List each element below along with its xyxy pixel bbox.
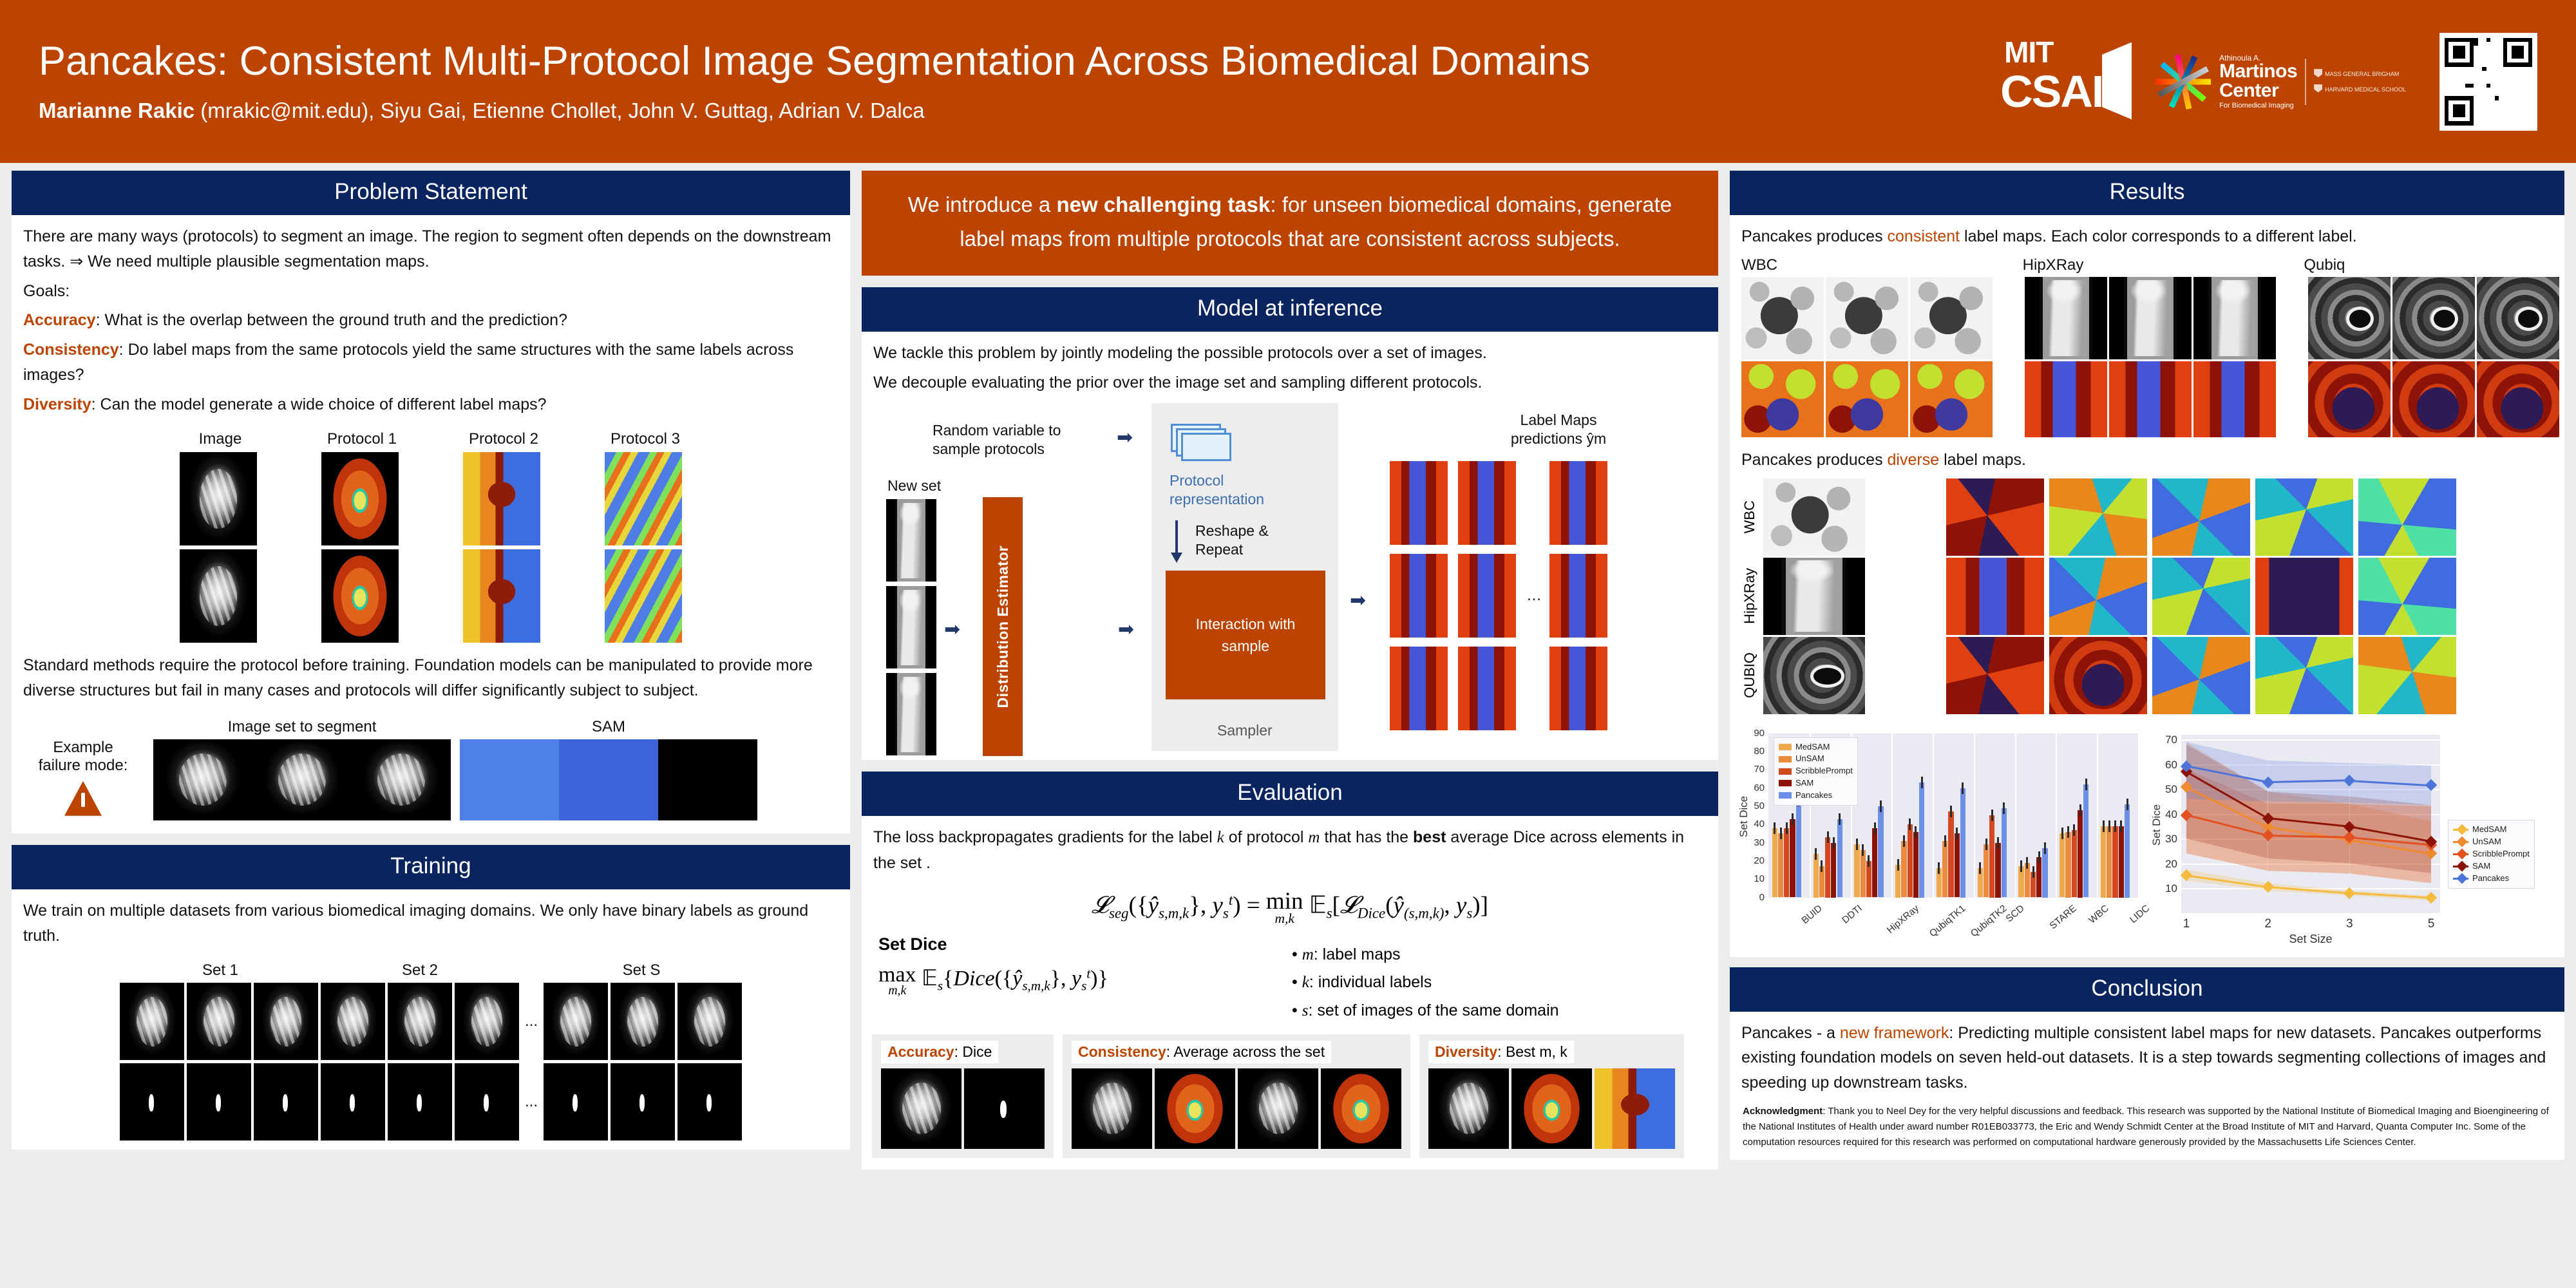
bar-pancakes-ddti — [1837, 819, 1842, 898]
bar-pancakes-qubiqtk2 — [1960, 788, 1965, 898]
bar-errorbar — [1997, 837, 1999, 849]
protocol-image-r2c1 — [180, 549, 257, 643]
diagram-newset-image-1 — [886, 499, 936, 582]
bar-errorbar — [2061, 828, 2063, 839]
failure-image-2 — [252, 739, 352, 820]
goal-diversity-text: : Can the model generate a wide choice o… — [91, 395, 547, 413]
metric-panel-accuracy: Accuracy: Dice — [872, 1034, 1054, 1158]
line-gridline — [2181, 739, 2440, 741]
loss-formula: 𝓛seg({ŷs,m,k}, yst) = minm,k 𝔼s[𝓛Dice(ŷ(… — [862, 880, 1718, 932]
line-xlabel: Set Size — [2181, 933, 2440, 946]
evaluation-definitions: Set Dice maxm,k 𝔼s{Dice({ŷs,m,k}, yst)} … — [862, 932, 1718, 1029]
bar-xtick-stare: STARE — [2048, 903, 2079, 931]
reshape-arrow-head — [1171, 553, 1182, 563]
page-title: Pancakes: Consistent Multi-Protocol Imag… — [39, 39, 1999, 84]
consistency-map-2 — [1321, 1068, 1401, 1149]
diversity-row-wbc: WBC — [1741, 478, 2553, 556]
bar-errorbar — [1874, 822, 1876, 834]
bar-sam-scd — [1995, 843, 2000, 898]
bar-pancakes-stare — [2042, 848, 2047, 898]
problem-statement-body: There are many ways (protocols) to segme… — [12, 215, 850, 428]
line-chart-set-size: 102030405060701235Set SizeSet DiceMedSAM… — [2150, 724, 2561, 953]
poster-canvas: Pancakes: Consistent Multi-Protocol Imag… — [0, 0, 2576, 1288]
training-mask-s1-3 — [254, 1063, 318, 1141]
training-image-row: ... — [19, 983, 842, 1060]
results-hipxray-maps — [2025, 361, 2276, 437]
mit-csail-logo: MIT CSAIL — [1999, 33, 2121, 130]
line-chart-legend: MedSAMUnSAMScribblePromptSAMPancakes — [2448, 820, 2535, 888]
diversity-qubiq-map-1 — [1946, 637, 2044, 714]
bar-sam-qubiqtk2 — [1955, 833, 1960, 897]
bar-pancakes-wbc — [2083, 784, 2088, 898]
legend-item-k: k: individual labels — [1292, 969, 1559, 997]
res-hip-img-3 — [2193, 277, 2276, 359]
bar-sam-wbc — [2078, 810, 2083, 898]
bar-sam-ddti — [1831, 843, 1836, 898]
bar-unsam-hipxray — [1861, 850, 1866, 898]
res-hip-map-2 — [2109, 361, 2192, 437]
task-bold: new challenging task — [1056, 193, 1270, 216]
martinos-star-icon — [2155, 53, 2211, 110]
partner-mgb: MASS GENERAL BRIGHAM — [2314, 69, 2406, 79]
symbol-legend-list: m: label maps k: individual labels s: se… — [1292, 934, 1559, 1025]
training-mask-s2-1 — [321, 1063, 385, 1141]
diagram-reshape-label: Reshape & Repeat — [1195, 522, 1269, 559]
conclusion-paragraph: Pancakes - a new framework: Predicting m… — [1741, 1021, 2553, 1095]
training-mask-s1-2 — [187, 1063, 251, 1141]
results-consistency-figure: WBC HipXRay Qubiq — [1730, 256, 2564, 441]
poster-header: Pancakes: Consistent Multi-Protocol Imag… — [0, 0, 2576, 163]
training-mask-s2-3 — [455, 1063, 519, 1141]
bar-errorbar — [1821, 860, 1823, 872]
pred-r1c3 — [1549, 461, 1607, 545]
distribution-estimator-label: Distribution Estimator — [994, 545, 1012, 708]
model-inference-diagram: Random variable to sample protocols ➡ Pr… — [862, 399, 1718, 760]
model-paragraph-1: We tackle this problem by jointly modeli… — [873, 341, 1707, 366]
set-dice-block: Set Dice maxm,k 𝔼s{Dice({ŷs,m,k}, yst)} — [875, 934, 1274, 1025]
failure-image-3 — [352, 739, 451, 820]
bar-xtick-buid: BUID — [1799, 903, 1824, 926]
bar-errorbar — [1985, 838, 1987, 850]
diagram-new-set-label: New set — [887, 477, 941, 495]
qr-code[interactable] — [2439, 33, 2537, 131]
res-qub-map-3 — [2477, 361, 2559, 437]
martinos-wordmark: Athinoula A. Martinos Center For Biomedi… — [2219, 54, 2297, 109]
results-hipxray-images — [2025, 277, 2276, 359]
problem-statement-panel: Problem Statement There are many ways (p… — [12, 171, 850, 833]
bar-gridline — [1974, 734, 1975, 898]
bar-errorbar — [1774, 822, 1776, 834]
bar-errorbar — [1909, 819, 1911, 830]
diagram-sampler-label: Sampler — [1217, 721, 1273, 740]
arrow-icon-estimator-to-sampler: ➡ — [1118, 618, 1134, 641]
bar-errorbar — [1786, 822, 1788, 834]
failure-image-1 — [153, 739, 252, 820]
bar-unsam-qubiqtk1 — [1901, 841, 1906, 898]
res-wbc-map-1 — [1741, 361, 1824, 437]
failure-sam-2 — [559, 739, 658, 820]
qr-code-grid — [2445, 38, 2532, 126]
consistency-map-1 — [1155, 1068, 1235, 1149]
training-img-ss-2 — [611, 983, 675, 1060]
bar-errorbar — [1979, 862, 1981, 874]
res-wbc-map-2 — [1826, 361, 1908, 437]
task-pre: We introduce a — [908, 193, 1057, 216]
bar-sam-stare — [2036, 857, 2041, 897]
bar-chart-set-dice: 0102030405060708090BUIDDDTIHipXRayQubiqT… — [1734, 724, 2144, 953]
bar-scribbleprompt-scd — [1989, 815, 1994, 898]
legend-label: ScribblePrompt — [2472, 848, 2530, 860]
bar-unsam-buid — [1778, 833, 1783, 897]
training-mask-ss-1 — [544, 1063, 608, 1141]
protocol-caption-2: Protocol 2 — [465, 430, 542, 448]
line-xtick-2: 2 — [2259, 917, 2277, 931]
protocol-caption-3: Protocol 3 — [607, 430, 684, 448]
bar-gridline — [2097, 734, 2098, 898]
header-text-block: Pancakes: Consistent Multi-Protocol Imag… — [0, 39, 1999, 124]
failure-image-set-group: Image set to segment — [153, 718, 451, 820]
bar-unsam-wbc — [2065, 832, 2070, 898]
bar-errorbar — [2114, 820, 2116, 832]
bar-pancakes-buid — [1796, 800, 1801, 897]
training-caption-row: Set 1 Set 2 Set S — [19, 961, 842, 980]
legend-item-unsam: UnSAM — [1779, 753, 1853, 765]
failure-image-set-row — [153, 739, 451, 820]
training-sets-figure: Set 1 Set 2 Set S ... — [12, 959, 850, 1141]
problem-statement-heading: Problem Statement — [12, 171, 850, 215]
acknowledgment-label: Acknowledgment — [1743, 1106, 1823, 1117]
evaluation-paragraph-1: The loss backpropagates gradients for th… — [873, 825, 1707, 876]
results-consistent-text: Pancakes produces consistent label maps.… — [1730, 215, 2564, 256]
problem-goals-label: Goals: — [23, 279, 838, 304]
diversity-qubiq-map-2 — [2049, 637, 2147, 714]
diversity-wbc-map-2 — [2049, 478, 2147, 556]
training-img-s2-1 — [321, 983, 385, 1060]
labelmap-prediction-grid: … — [1390, 461, 1607, 730]
line-ytick: 70 — [2152, 734, 2177, 746]
diversity-wbc-source — [1763, 478, 1865, 556]
bar-errorbar — [1839, 813, 1841, 825]
results-dataset-captions: WBC HipXRay Qubiq — [1741, 256, 2553, 274]
training-mask-ss-2 — [611, 1063, 675, 1141]
legend-label: ScribblePrompt — [1795, 765, 1853, 777]
protocol-labelmap-r1c3 — [463, 452, 540, 545]
diagram-newset-image-2 — [886, 586, 936, 668]
bar-errorbar — [2126, 799, 2128, 810]
metric-consistency-title: Consistency: Average across the set — [1072, 1041, 1331, 1063]
bar-medsam-buid — [1772, 828, 1777, 898]
bar-scribbleprompt-qubiqtk1 — [1908, 824, 1913, 897]
bar-xtick-hipxray: HipXRay — [1885, 903, 1921, 936]
results-charts: 0102030405060708090BUIDDDTIHipXRayQubiqT… — [1730, 718, 2564, 957]
training-img-s2-3 — [455, 983, 519, 1060]
results-caption-qubiq: Qubiq — [2304, 256, 2553, 274]
training-paragraph-1: We train on multiple datasets from vario… — [23, 898, 838, 949]
line-xtick-5: 5 — [2422, 917, 2440, 931]
diversity-rowlabel-wbc: WBC — [1741, 500, 1758, 533]
bar-errorbar — [2038, 851, 2040, 863]
arrow-icon-images-to-estimator: ➡ — [944, 618, 960, 641]
res-hip-map-3 — [2193, 361, 2276, 437]
bar-pancakes-qubiqtk1 — [1919, 782, 1924, 898]
diversity-wbc-map-1 — [1946, 478, 2044, 556]
set-dice-formula: maxm,k 𝔼s{Dice({ŷs,m,k}, yst)} — [875, 954, 1274, 1003]
bar-scribbleprompt-wbc — [2072, 830, 2077, 898]
failure-mode-label-line2: failure mode: — [22, 757, 144, 775]
legend-line-swatch — [2453, 841, 2468, 843]
bar-xtick-qubiqtk2: QubiqTK2 — [1968, 903, 2009, 939]
bar-errorbar — [1880, 800, 1882, 812]
bar-errorbar — [2120, 820, 2122, 832]
goal-accuracy: Accuracy: What is the overlap between th… — [23, 308, 838, 333]
conclusion-panel: Conclusion Pancakes - a new framework: P… — [1730, 967, 2564, 1160]
diversity-hip-map-2 — [2049, 558, 2147, 635]
protocol-row-1 — [12, 448, 850, 545]
training-heading: Training — [12, 845, 850, 889]
consistency-image-2 — [1238, 1068, 1318, 1149]
bar-medsam-ddti — [1814, 854, 1819, 898]
protocol-row-2 — [12, 545, 850, 643]
bar-pancakes-scd — [2002, 808, 2007, 898]
bar-ylabel: Set Dice — [1738, 791, 1750, 842]
failure-sam-1 — [460, 739, 559, 820]
diversity-rowlabel-qubiq: QUBIQ — [1741, 652, 1758, 698]
training-img-s1-3 — [254, 983, 318, 1060]
results-qubiq-images — [2308, 277, 2559, 359]
martinos-subtitle: For Biomedical Imaging — [2219, 102, 2297, 109]
results-caption-wbc: WBC — [1741, 256, 1991, 274]
legend-item-sam: SAM — [2453, 860, 2530, 873]
pred-r3c3 — [1549, 647, 1607, 730]
protocol-caption-row: Image Protocol 1 Protocol 2 Protocol 3 — [12, 430, 850, 448]
diversity-wbc-map-3 — [2152, 478, 2250, 556]
legend-line-swatch — [2453, 829, 2468, 831]
protocol-labelmap-r2c3 — [463, 549, 540, 643]
bar-sam-lidc — [2119, 826, 2124, 898]
bar-errorbar — [2108, 820, 2110, 832]
arrow-icon-random-to-protocol: ➡ — [1117, 426, 1133, 449]
shield-icon — [2314, 84, 2322, 93]
problem-paragraph-2-wrap: Standard methods require the protocol be… — [12, 643, 850, 714]
bar-ytick: 10 — [1738, 873, 1765, 884]
legend-item-s: s: set of images of the same domain — [1292, 997, 1559, 1025]
author-list: Marianne Rakic (mrakic@mit.edu), Siyu Ga… — [39, 98, 1999, 124]
training-mask-row: ... — [19, 1063, 842, 1141]
failure-sam-3 — [658, 739, 757, 820]
legend-label: Pancakes — [1795, 790, 1832, 802]
accuracy-image — [881, 1068, 961, 1149]
bar-errorbar — [1915, 826, 1917, 838]
training-caption-set1: Set 1 — [122, 961, 319, 980]
bar-gridline — [2056, 734, 2057, 898]
bar-errorbar — [2073, 824, 2075, 836]
res-hip-map-1 — [2025, 361, 2107, 437]
legend-swatch — [1779, 744, 1792, 750]
metric-diversity-title: Diversity: Best m, k — [1428, 1041, 1574, 1063]
bar-unsam-lidc — [2107, 826, 2112, 898]
bar-xtick-wbc: WBC — [2087, 903, 2111, 926]
metric-accuracy-title: Accuracy: Dice — [881, 1041, 998, 1063]
line-xtick-1: 1 — [2177, 917, 2195, 931]
training-img-ss-1 — [544, 983, 608, 1060]
reshape-arrow-icon — [1175, 520, 1178, 554]
results-diversity-figure: WBC HipXRay — [1730, 478, 2564, 718]
bar-unsam-qubiqtk2 — [1942, 841, 1947, 898]
bar-errorbar — [1956, 828, 1958, 839]
line-ytick: 20 — [2152, 858, 2177, 871]
consistency-image-1 — [1072, 1068, 1152, 1149]
bar-unsam-scd — [1984, 844, 1989, 897]
logo-divider — [2305, 59, 2306, 105]
metric-diversity-images — [1428, 1068, 1675, 1149]
legend-line-swatch — [2453, 878, 2468, 880]
diversity-hip-map-1 — [1946, 558, 2044, 635]
metric-consistency-images — [1072, 1068, 1401, 1149]
bar-xtick-lidc: LIDC — [2128, 903, 2152, 925]
distribution-estimator-box: Distribution Estimator — [983, 497, 1023, 756]
protocol-comparison-figure: Image Protocol 1 Protocol 2 Protocol 3 — [12, 428, 850, 643]
legend-line-swatch — [2453, 866, 2468, 867]
diversity-row-qubiq: QUBIQ — [1741, 637, 2553, 714]
bar-errorbar — [2079, 804, 2081, 816]
res-wbc-img-2 — [1826, 277, 1908, 359]
mit-wordmark: MIT — [2004, 37, 2053, 67]
metric-panel-consistency: Consistency: Average across the set — [1063, 1034, 1410, 1158]
partner-logos: MASS GENERAL BRIGHAM HARVARD MEDICAL SCH… — [2314, 69, 2406, 94]
legend-line-swatch — [2453, 853, 2468, 855]
results-labelmap-row — [1741, 361, 2553, 437]
right-column: Results Pancakes produces consistent lab… — [1730, 171, 2564, 1160]
bar-errorbar — [2032, 866, 2034, 878]
author-primary: Marianne Rakic — [39, 99, 194, 122]
legend-swatch — [1779, 792, 1792, 799]
res-hip-img-1 — [2025, 277, 2107, 359]
results-caption-hipxray: HipXRay — [2023, 256, 2272, 274]
bar-ytick: 0 — [1738, 892, 1765, 903]
diversity-wbc-map-5 — [2358, 478, 2456, 556]
diagram-protocol-representation-label: Protocol representation — [1170, 471, 1264, 509]
arrow-icon-sampler-to-labelmaps: ➡ — [1350, 589, 1366, 612]
diagram-random-variable-label: Random variable to sample protocols — [933, 421, 1061, 459]
bar-errorbar — [1950, 806, 1952, 817]
diversity-hip-map-5 — [2358, 558, 2456, 635]
set-dice-heading: Set Dice — [875, 934, 1274, 954]
bar-errorbar — [2026, 857, 2028, 869]
problem-paragraph-1: There are many ways (protocols) to segme… — [23, 224, 838, 274]
evaluation-metric-panels: Accuracy: Dice Consistency: Average acro… — [862, 1029, 1718, 1170]
diagram-newset-image-3 — [886, 673, 936, 755]
bar-pancakes-hipxray — [1878, 806, 1883, 898]
task-highlight-box: We introduce a new challenging task: for… — [862, 171, 1718, 276]
training-caption-set2: Set 2 — [321, 961, 518, 980]
bar-gridline — [1891, 734, 1893, 898]
bar-scribbleprompt-buid — [1784, 828, 1789, 898]
bar-ytick: 90 — [1738, 728, 1765, 739]
bar-pancakes-lidc — [2125, 804, 2130, 898]
bar-errorbar — [1827, 831, 1829, 843]
failure-caption-sam: SAM — [460, 718, 757, 736]
bar-xtick-scd: SCD — [2004, 903, 2027, 924]
training-img-s1-1 — [120, 983, 184, 1060]
protocol-labelmap-r1c2 — [321, 452, 399, 545]
failure-sam-group: SAM — [460, 718, 757, 820]
results-diverse-text: Pancakes produces diverse label maps. — [1730, 441, 2564, 478]
pred-r1c2 — [1458, 461, 1516, 545]
goal-consistency: Consistency: Do label maps from the same… — [23, 337, 838, 388]
failure-mode-label: Example failure mode: — [22, 718, 144, 816]
line-ylabel: Set Dice — [2150, 799, 2163, 851]
bar-errorbar — [1792, 813, 1794, 825]
partner-harvard: HARVARD MEDICAL SCHOOL — [2314, 84, 2406, 94]
bar-errorbar — [1938, 862, 1940, 874]
results-consistent-paragraph: Pancakes produces consistent label maps.… — [1741, 224, 2553, 249]
results-qubiq-maps — [2308, 361, 2559, 437]
pred-r1c1 — [1390, 461, 1448, 545]
training-img-s1-2 — [187, 983, 251, 1060]
martinos-center-logo: Athinoula A. Martinos Center For Biomedi… — [2155, 53, 2406, 110]
res-qub-img-1 — [2308, 277, 2391, 359]
pred-r3c1 — [1390, 647, 1448, 730]
left-column: Problem Statement There are many ways (p… — [12, 171, 850, 1150]
diversity-image — [1428, 1068, 1509, 1149]
goal-diversity-term: Diversity — [23, 395, 91, 413]
bar-medsam-lidc — [2101, 826, 2106, 898]
acknowledgment-body: : Thank you to Neel Dey for the very hel… — [1743, 1106, 2549, 1148]
protocol-caption-1: Protocol 1 — [323, 430, 401, 448]
bar-errorbar — [2103, 820, 2105, 832]
diversity-hip-source — [1763, 558, 1865, 635]
diversity-row-hipxray: HipXRay — [1741, 558, 2553, 635]
legend-item-medsam: MedSAM — [1779, 741, 1853, 753]
bar-errorbar — [1991, 810, 1993, 821]
author-rest: (mrakic@mit.edu), Siyu Gai, Etienne Chol… — [194, 99, 924, 122]
diversity-map-2 — [1595, 1068, 1675, 1149]
bar-errorbar — [1897, 859, 1899, 871]
legend-label: MedSAM — [2472, 824, 2506, 836]
failure-mode-label-line1: Example — [22, 739, 144, 757]
bar-errorbar — [1903, 835, 1905, 847]
res-qub-map-2 — [2392, 361, 2475, 437]
bar-ytick: 20 — [1738, 855, 1765, 866]
bar-sam-buid — [1790, 819, 1795, 898]
res-qub-img-3 — [2477, 277, 2559, 359]
bar-errorbar — [1962, 782, 1964, 794]
legend-item-m: m: label maps — [1292, 941, 1559, 969]
diversity-hip-map-3 — [2152, 558, 2250, 635]
bar-errorbar — [1815, 848, 1817, 860]
model-panel: Model at inference We tackle this proble… — [862, 287, 1718, 761]
failure-sam-row — [460, 739, 757, 820]
conclusion-heading: Conclusion — [1730, 967, 2564, 1012]
accuracy-mask — [964, 1068, 1045, 1149]
middle-column: We introduce a new challenging task: for… — [862, 171, 1718, 1170]
legend-swatch — [1779, 768, 1792, 775]
bar-ytick: 80 — [1738, 746, 1765, 757]
diversity-qubiq-source — [1763, 637, 1865, 714]
interaction-with-sample-box: Interaction with sample — [1166, 571, 1325, 699]
line-ytick: 10 — [2152, 882, 2177, 895]
diversity-qubiq-map-5 — [2358, 637, 2456, 714]
goal-consistency-text: : Do label maps from the same protocols … — [23, 341, 793, 384]
res-hip-img-2 — [2109, 277, 2192, 359]
diversity-wbc-map-4 — [2255, 478, 2353, 556]
bar-ytick: 70 — [1738, 764, 1765, 775]
martinos-name: Martinos — [2219, 62, 2297, 81]
evaluation-panel: Evaluation The loss backpropagates gradi… — [862, 772, 1718, 1170]
legend-swatch — [1779, 756, 1792, 762]
metric-panel-diversity: Diversity: Best m, k — [1419, 1034, 1684, 1158]
bar-medsam-wbc — [2060, 833, 2065, 897]
